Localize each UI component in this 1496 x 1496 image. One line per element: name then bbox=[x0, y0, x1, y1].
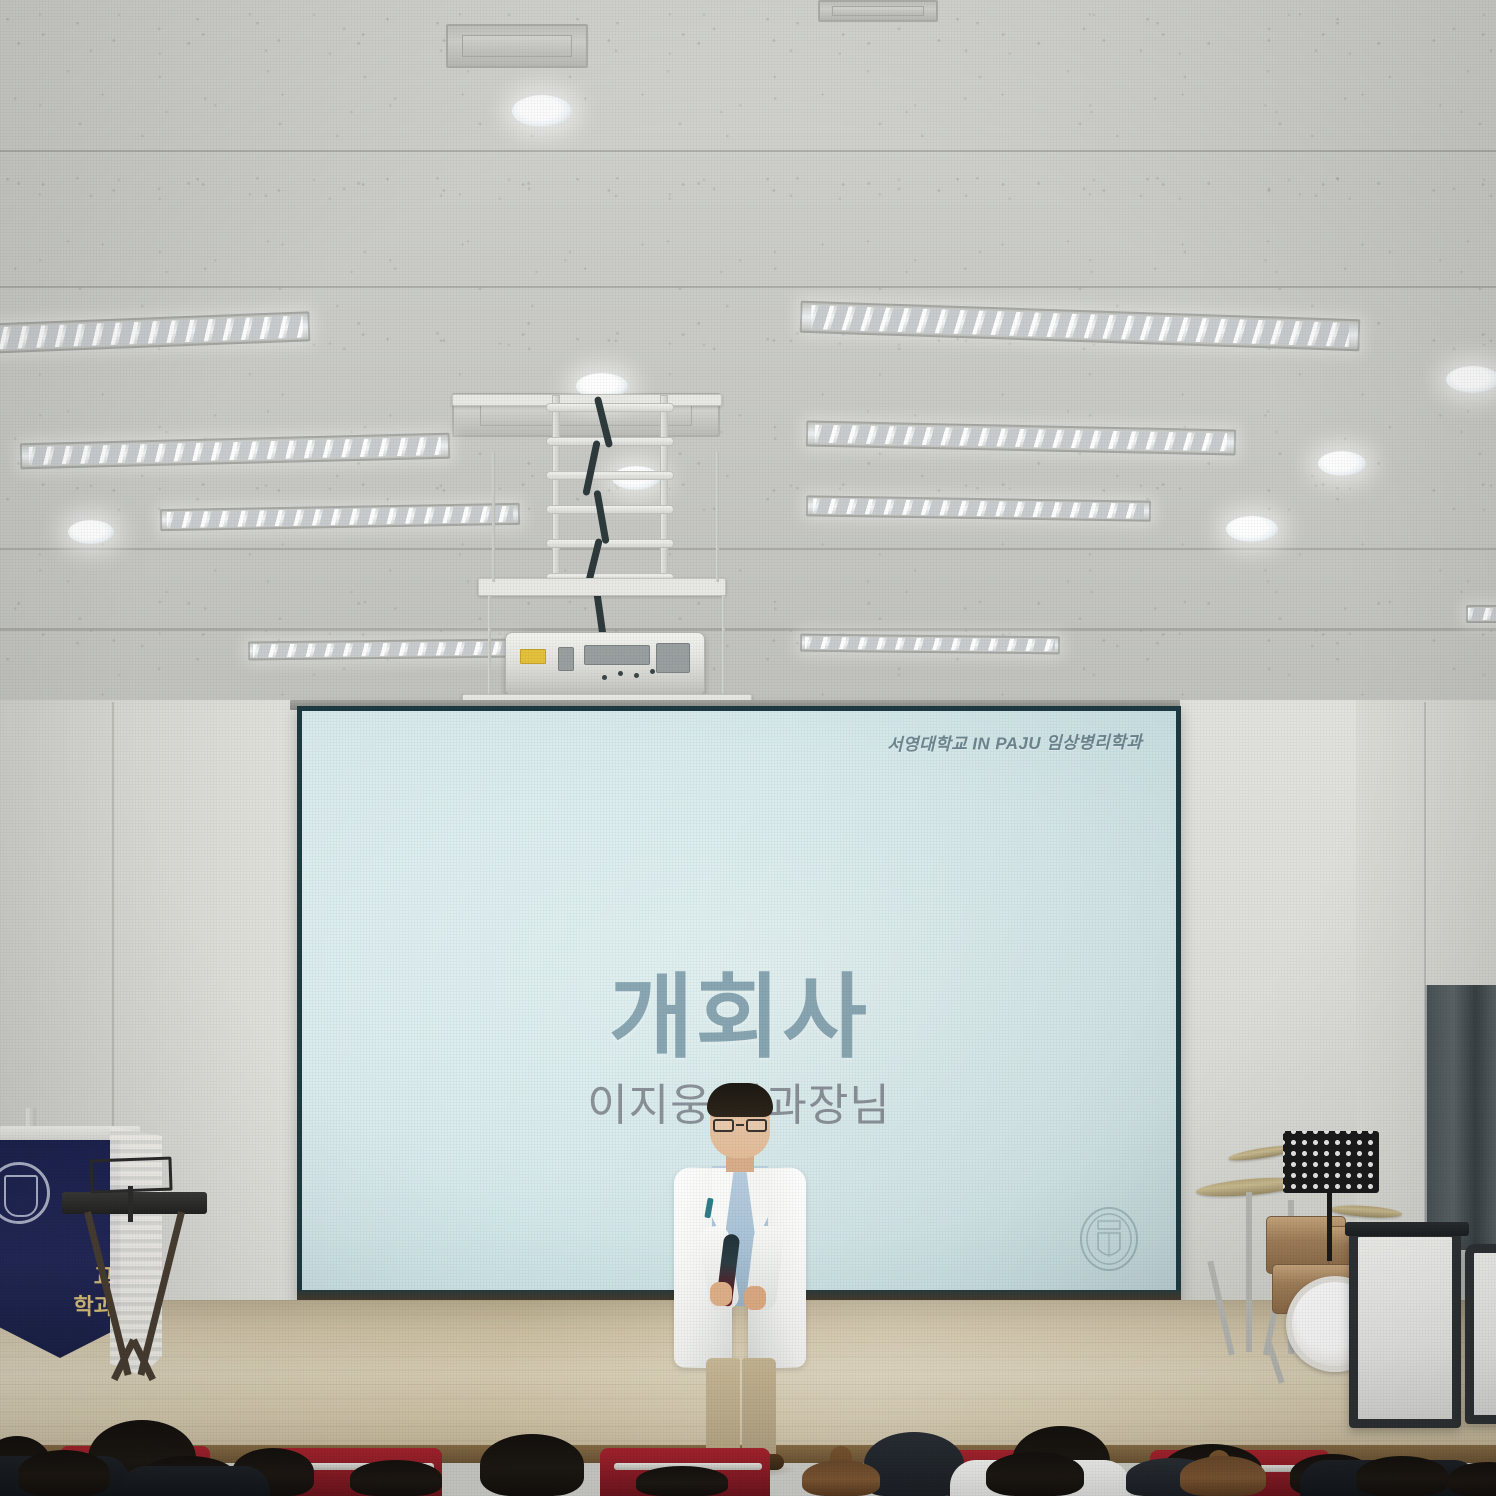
audience-head bbox=[802, 1460, 880, 1496]
eyeglasses-icon bbox=[712, 1119, 768, 1132]
hand-left bbox=[710, 1282, 732, 1306]
ceiling-light-strip bbox=[1466, 605, 1496, 623]
audience-head bbox=[350, 1460, 442, 1496]
banner-crest-icon bbox=[0, 1162, 50, 1224]
ceiling-seam bbox=[0, 628, 1496, 631]
slide-title: 개회사 bbox=[302, 943, 1176, 1076]
white-podium-secondary bbox=[1465, 1244, 1496, 1424]
audience-head bbox=[986, 1452, 1084, 1496]
hanger-rod bbox=[488, 596, 491, 700]
downlight-icon bbox=[68, 520, 114, 544]
audience-head bbox=[18, 1450, 110, 1496]
audience-head bbox=[1356, 1456, 1448, 1496]
music-stand-pole bbox=[128, 1186, 133, 1222]
downlight-icon bbox=[1226, 516, 1278, 542]
downlight-icon bbox=[1446, 366, 1496, 393]
perforated-music-stand bbox=[1283, 1131, 1379, 1193]
audience-head bbox=[1180, 1456, 1266, 1496]
auditorium-scene: 서영대학교 IN PAJU 임상병리학과 개회사 이지웅 학과장님 교 학과 bbox=[0, 0, 1496, 1496]
dark-doorway bbox=[1425, 985, 1496, 1250]
ceiling-light-strip bbox=[248, 639, 518, 661]
perforated-stand-pole bbox=[1327, 1193, 1332, 1261]
university-crest-icon bbox=[1078, 1205, 1140, 1277]
downlight-icon bbox=[1318, 451, 1366, 476]
ceiling-seam bbox=[0, 150, 1496, 152]
scissor-lift bbox=[546, 395, 674, 595]
hand-right bbox=[744, 1286, 766, 1310]
hanger-rod bbox=[492, 452, 495, 582]
hanger-rod bbox=[722, 596, 725, 700]
cymbal-stand bbox=[1246, 1192, 1252, 1352]
audience-shoulders bbox=[120, 1466, 270, 1496]
ceiling-tile-texture bbox=[0, 0, 1496, 712]
ceiling-seam bbox=[0, 548, 1496, 550]
audience-row bbox=[0, 1398, 1496, 1496]
ceiling-seam bbox=[0, 286, 1496, 288]
ceiling-projector bbox=[505, 632, 705, 696]
warning-label-icon bbox=[520, 649, 546, 664]
hanger-rod bbox=[716, 452, 719, 582]
podium-top-rail bbox=[1345, 1222, 1469, 1236]
air-vent-icon bbox=[818, 0, 938, 22]
banner-text: 교 학과 bbox=[0, 1262, 114, 1321]
slide-header-text: 서영대학교 IN PAJU 임상병리학과 bbox=[887, 728, 1143, 756]
downlight-icon bbox=[512, 95, 572, 127]
audience-head bbox=[480, 1434, 584, 1496]
ceiling bbox=[0, 0, 1496, 712]
lift-mid-plate bbox=[478, 578, 726, 596]
keyboard-instrument bbox=[62, 1192, 207, 1214]
ceiling-light-strip bbox=[800, 634, 1060, 655]
audience-head bbox=[636, 1466, 728, 1496]
air-vent-icon bbox=[446, 24, 588, 68]
hair bbox=[707, 1083, 773, 1117]
